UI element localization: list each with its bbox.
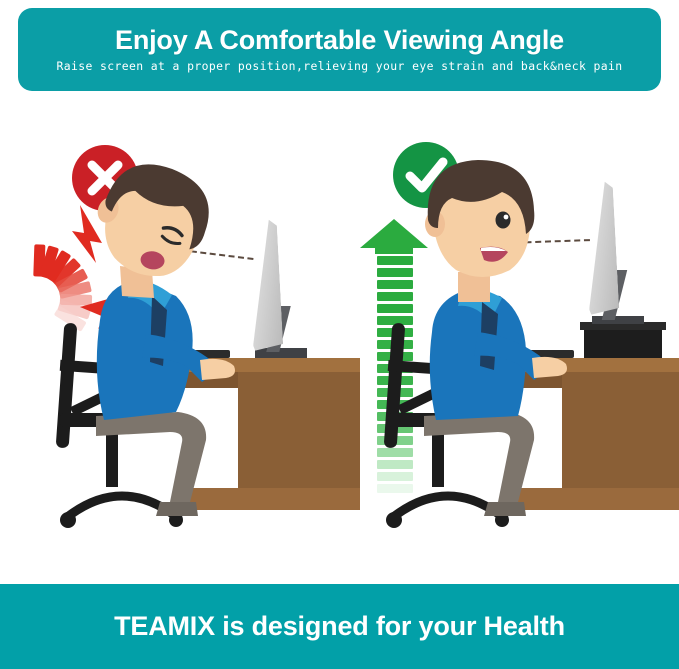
correct-posture-panel [340,120,679,580]
top-banner: Enjoy A Comfortable Viewing Angle Raise … [18,8,661,91]
person-incorrect-posture [0,120,339,580]
subheadline: Raise screen at a proper position,reliev… [56,61,622,72]
incorrect-posture-panel [0,120,339,580]
person-correct-posture [340,120,679,580]
headline: Enjoy A Comfortable Viewing Angle [115,27,564,54]
brand-tagline: TEAMIX is designed for your Health [114,613,565,640]
infographic-canvas: Enjoy A Comfortable Viewing Angle Raise … [0,0,679,669]
bottom-banner: TEAMIX is designed for your Health [0,584,679,669]
